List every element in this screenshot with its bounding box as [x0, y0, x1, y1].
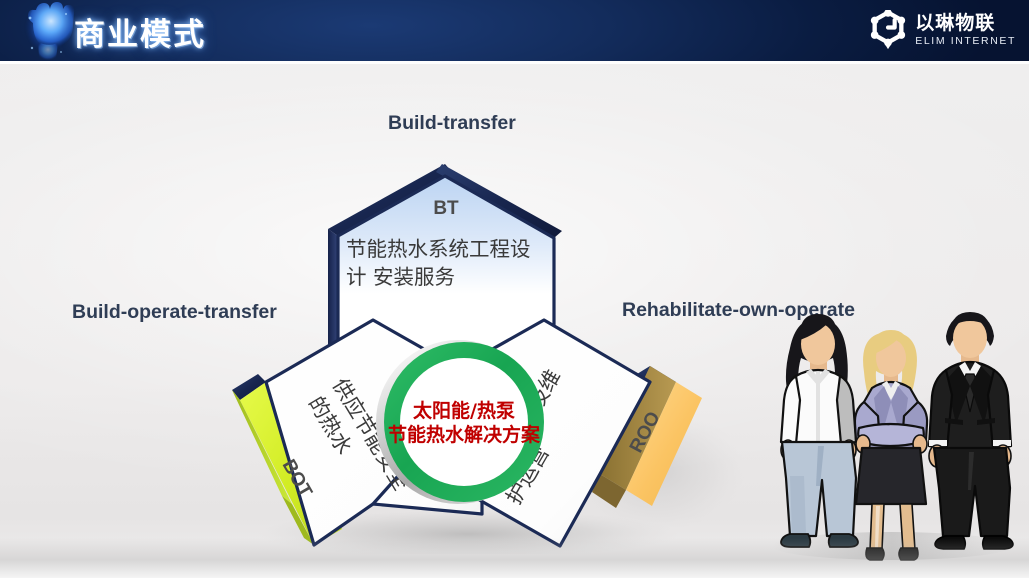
- fist-icon: [12, 0, 82, 61]
- hexagon-g-logo-icon: [868, 10, 908, 50]
- brand-name-en: ELIM INTERNET: [915, 36, 1016, 47]
- hex-body-bt-line2: 计 安装服务: [346, 265, 455, 289]
- slide-body: Build-transfer Build-operate-transfer Re…: [0, 64, 1029, 578]
- center-badge: 太阳能/热泵 节能热水解决方案: [376, 340, 544, 504]
- center-line-1: 太阳能/热泵: [413, 399, 515, 422]
- business-model-hexagon-diagram: BT 节能热水系统工程设 计 安装服务 BOT: [210, 134, 750, 554]
- business-people-illustration: [760, 296, 1022, 568]
- figure-woman-lavender-jacket: [855, 330, 927, 560]
- caption-build-transfer: Build-transfer: [388, 112, 516, 135]
- hex-tag-bt: BT: [433, 198, 459, 219]
- figure-man-black-suit: [929, 312, 1013, 549]
- center-line-2: 节能热水解决方案: [388, 423, 541, 446]
- hex-body-bt-line1: 节能热水系统工程设: [346, 237, 531, 261]
- brand-name-cn: 以琳物联: [915, 14, 1016, 33]
- figure-woman-white-shirt: [781, 314, 858, 547]
- brand-logo-text: 以琳物联 ELIM INTERNET: [915, 14, 1016, 47]
- slide-canvas: 商业模式 以琳物联 ELIM INTERNET Build-transfer: [0, 0, 1029, 578]
- slide-header: 商业模式 以琳物联 ELIM INTERNET: [0, 0, 1029, 61]
- page-title: 商业模式: [74, 9, 206, 54]
- brand-logo: 以琳物联 ELIM INTERNET: [868, 9, 1016, 51]
